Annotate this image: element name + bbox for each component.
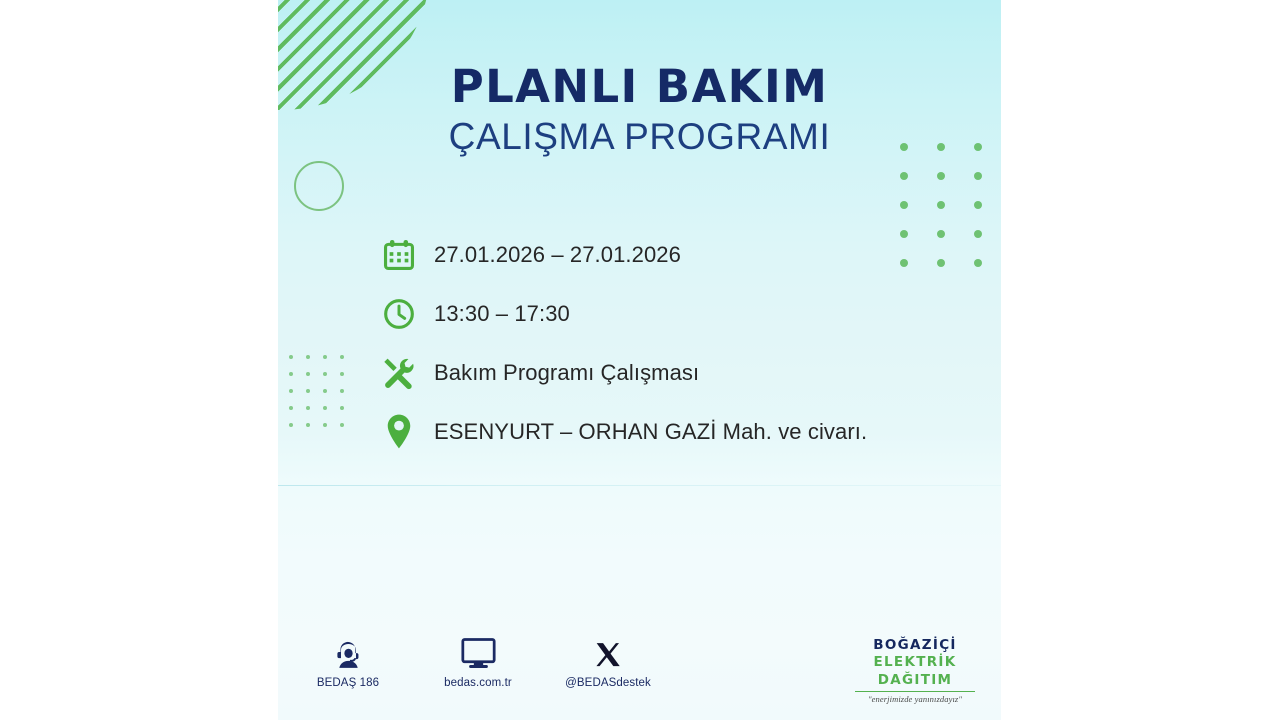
brand-underline: [855, 691, 975, 693]
detail-text-time: 13:30 – 17:30: [434, 301, 570, 327]
contact-item-website[interactable]: bedas.com.tr: [432, 636, 524, 689]
decorative-dot: [937, 172, 945, 180]
x-twitter-icon: [594, 636, 623, 670]
contact-item-phone[interactable]: BEDAŞ 186: [302, 636, 394, 689]
decorative-dot: [974, 172, 982, 180]
calendar-icon: [378, 234, 420, 276]
decorative-dot: [306, 406, 310, 410]
brand-line-3: DAĞITIM: [851, 672, 979, 689]
support-agent-icon: [333, 636, 364, 670]
decorative-dot: [289, 372, 293, 376]
decorative-dot: [323, 423, 327, 427]
decorative-dot: [323, 372, 327, 376]
decorative-dot: [937, 201, 945, 209]
decorative-dot: [323, 406, 327, 410]
maintenance-details-list: 27.01.2026 – 27.01.2026 13:30 – 17:30: [378, 228, 988, 464]
decorative-dot: [323, 389, 327, 393]
decorative-dot: [900, 201, 908, 209]
decorative-dot: [974, 201, 982, 209]
decorative-dot: [306, 355, 310, 359]
screenshot-root: PLANLI BAKIM ÇALIŞMA PROGRAMI: [0, 0, 1280, 720]
detail-row-time: 13:30 – 17:30: [378, 287, 988, 340]
detail-row-date: 27.01.2026 – 27.01.2026: [378, 228, 988, 281]
page-title: PLANLI BAKIM: [278, 64, 1001, 111]
detail-row-worktype: Bakım Programı Çalışması: [378, 346, 988, 399]
decorative-dot: [340, 372, 344, 376]
detail-text-date: 27.01.2026 – 27.01.2026: [434, 242, 681, 268]
decorative-dot: [340, 389, 344, 393]
decorative-dot: [323, 355, 327, 359]
decorative-dot: [900, 172, 908, 180]
dot-grid-left-decoration: [289, 355, 357, 440]
page-subtitle: ÇALIŞMA PROGRAMI: [278, 116, 1001, 157]
monitor-icon: [460, 636, 497, 670]
decorative-dot: [306, 372, 310, 376]
decorative-dot: [306, 389, 310, 393]
detail-text-worktype: Bakım Programı Çalışması: [434, 360, 699, 386]
decorative-dot: [340, 406, 344, 410]
brand-line-1: BOĞAZİÇİ: [851, 637, 979, 654]
location-pin-icon: [378, 411, 420, 453]
poster-heading-block: PLANLI BAKIM ÇALIŞMA PROGRAMI: [278, 64, 1001, 157]
decorative-dot: [289, 355, 293, 359]
detail-text-location: ESENYURT – ORHAN GAZİ Mah. ve civarı.: [434, 419, 867, 445]
contact-channels: BEDAŞ 186 bedas.com.tr: [302, 636, 654, 689]
poster-footer: BEDAŞ 186 bedas.com.tr: [278, 636, 1001, 708]
brand-line-2: ELEKTRİK: [851, 654, 979, 671]
bedas-logo: BOĞAZİÇİ ELEKTRİK DAĞITIM "enerjimizde y…: [851, 637, 979, 704]
planned-maintenance-poster: PLANLI BAKIM ÇALIŞMA PROGRAMI: [278, 0, 1001, 720]
decorative-dot: [289, 423, 293, 427]
decorative-dot: [289, 406, 293, 410]
decorative-dot: [289, 389, 293, 393]
circle-outline-decoration: [294, 161, 344, 211]
decorative-dot: [340, 355, 344, 359]
contact-label-website: bedas.com.tr: [444, 677, 512, 689]
contact-label-phone: BEDAŞ 186: [317, 677, 379, 689]
detail-row-location: ESENYURT – ORHAN GAZİ Mah. ve civarı.: [378, 405, 988, 458]
contact-label-social: @BEDASdestek: [565, 677, 651, 689]
brand-tagline: "enerjimizde yanınızdayız": [851, 694, 979, 704]
decorative-dot: [306, 423, 310, 427]
tools-icon: [378, 352, 420, 394]
decorative-dot: [340, 423, 344, 427]
clock-icon: [378, 293, 420, 335]
contact-item-social[interactable]: @BEDASdestek: [562, 636, 654, 689]
section-divider: [278, 485, 1001, 486]
